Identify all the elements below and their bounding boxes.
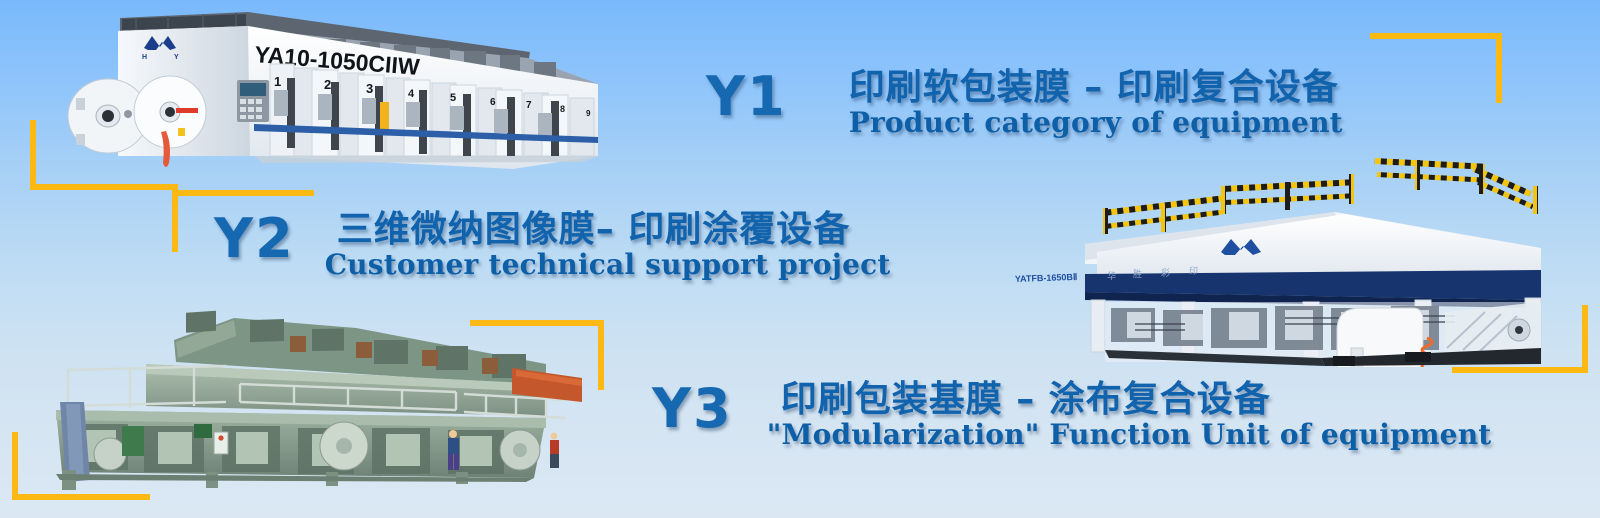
bracket-line-topright-vertical bbox=[1496, 33, 1502, 103]
svg-text:7: 7 bbox=[526, 100, 532, 111]
svg-text:6: 6 bbox=[490, 97, 496, 108]
entry-y2-code: Y2 bbox=[214, 212, 295, 266]
bracket-line-right-vertical bbox=[1582, 305, 1588, 373]
entry-y2-chinese: 三维微纳图像膜– 印刷涂覆设备 bbox=[337, 210, 891, 250]
svg-text:4: 4 bbox=[408, 88, 415, 100]
entry-y1: Y1 印刷软包装膜 – 印刷复合设备 Product category of e… bbox=[706, 70, 1343, 138]
svg-text:Y: Y bbox=[174, 54, 179, 61]
bracket-line-middle-vertical bbox=[598, 320, 604, 390]
bracket-line-right-horizontal bbox=[1452, 367, 1588, 373]
svg-text:2: 2 bbox=[324, 77, 331, 92]
svg-text:印: 印 bbox=[1189, 265, 1198, 277]
bracket-line-bottomleft-vertical bbox=[12, 432, 18, 500]
entry-y3-english: "Modularization" Function Unit of equipm… bbox=[767, 420, 1492, 449]
bracket-line-left-vertical bbox=[30, 120, 36, 190]
bracket-line-left-horizontal bbox=[30, 184, 178, 190]
svg-text:8: 8 bbox=[560, 104, 565, 114]
svg-text:H: H bbox=[142, 54, 147, 61]
bracket-line-topright-horizontal bbox=[1370, 33, 1502, 39]
svg-text:5: 5 bbox=[450, 92, 456, 104]
machine-image-printing-press: H Y YA10-1050CIIW bbox=[58, 6, 603, 178]
entry-y3: Y3 印刷包装基膜 – 涂布复合设备 "Modularization" Func… bbox=[652, 382, 1491, 450]
machine-image-coating-line bbox=[26, 306, 586, 492]
entry-y3-chinese: 印刷包装基膜 – 涂布复合设备 bbox=[781, 380, 1492, 420]
machine-image-coating-laminator: YATFB-1650BⅡ 华胜 彩印 bbox=[985, 152, 1545, 367]
svg-text:9: 9 bbox=[586, 109, 591, 118]
svg-text:YATFB-1650BⅡ: YATFB-1650BⅡ bbox=[1015, 272, 1078, 284]
entry-y2-english: Customer technical support project bbox=[325, 250, 891, 279]
entry-y1-chinese: 印刷软包装膜 – 印刷复合设备 bbox=[849, 68, 1343, 108]
svg-text:胜: 胜 bbox=[1133, 269, 1142, 280]
svg-text:3: 3 bbox=[366, 81, 373, 96]
svg-text:1: 1 bbox=[274, 74, 281, 89]
bracket-line-y2-horizontal bbox=[172, 190, 314, 196]
equipment-category-banner: H Y YA10-1050CIIW bbox=[0, 0, 1600, 518]
entry-y2: Y2 三维微纳图像膜– 印刷涂覆设备 Customer technical su… bbox=[214, 212, 891, 280]
entry-y1-code: Y1 bbox=[706, 70, 787, 124]
bracket-line-bottomleft-horizontal bbox=[12, 494, 150, 500]
entry-y1-english: Product category of equipment bbox=[849, 108, 1343, 137]
svg-text:华: 华 bbox=[1107, 270, 1116, 282]
bracket-line-y2-vertical bbox=[172, 190, 178, 252]
entry-y3-code: Y3 bbox=[652, 382, 733, 436]
svg-text:彩: 彩 bbox=[1161, 268, 1170, 279]
